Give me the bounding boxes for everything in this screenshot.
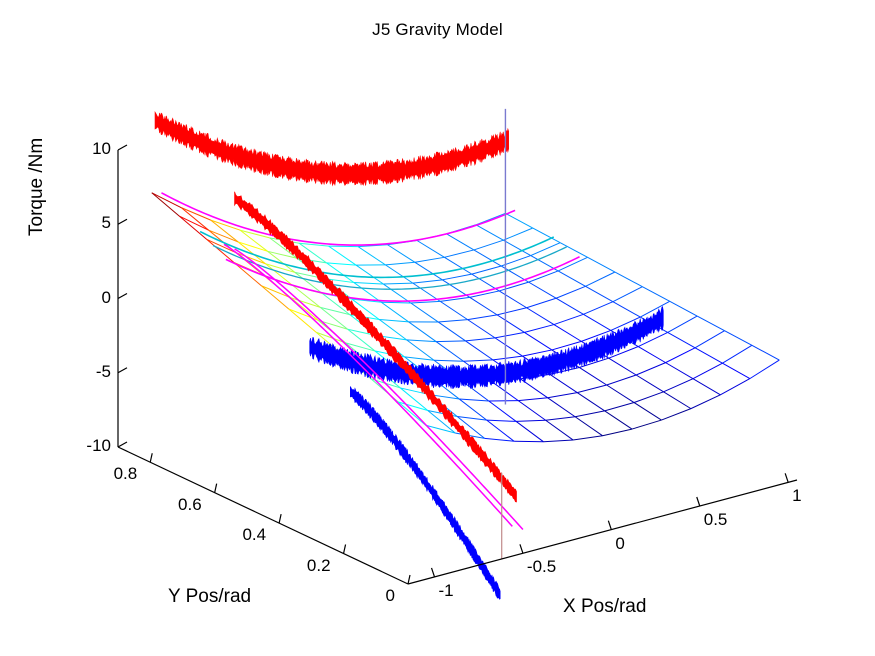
mesh-segment <box>556 298 583 314</box>
mesh-segment <box>472 266 501 274</box>
z-tick-mark <box>118 442 127 447</box>
mesh-segment <box>438 320 467 322</box>
mesh-segment <box>546 417 575 421</box>
mesh-segment <box>291 298 318 321</box>
x-tick-mark <box>432 568 435 577</box>
mesh-segment <box>558 271 585 286</box>
mesh-segment <box>468 315 497 320</box>
mesh-segment <box>466 341 493 360</box>
mesh-segment <box>385 265 412 283</box>
mesh-segment <box>725 331 752 346</box>
mesh-segment <box>666 348 695 363</box>
y-tick-label: 0.6 <box>178 495 202 515</box>
model-fit-branch-2 <box>235 249 523 530</box>
z-tick-mark <box>118 368 127 373</box>
mesh-segment <box>642 287 669 302</box>
mesh-segment <box>497 308 526 315</box>
mesh-segment <box>607 385 634 403</box>
mesh-segment <box>670 301 697 316</box>
x-tick-label: 0.5 <box>704 510 728 530</box>
x-tick-label: 1 <box>792 486 801 506</box>
mesh-segment <box>554 325 581 342</box>
mesh-segment <box>613 302 640 317</box>
mesh-segment <box>636 363 665 375</box>
mesh-segment <box>499 291 526 308</box>
mesh-segment <box>436 341 465 342</box>
mesh-segment <box>413 280 442 283</box>
y-tick-label: 0.4 <box>242 525 266 545</box>
mesh-segment <box>514 441 543 442</box>
y-tick-mark <box>215 484 217 493</box>
gravity-model-mesh <box>152 193 780 442</box>
mesh-segment <box>695 348 722 363</box>
mesh-segment <box>327 263 356 265</box>
measured-torque-positive <box>155 112 509 186</box>
mesh-segment <box>415 257 444 262</box>
mesh-segment <box>668 316 697 332</box>
figure-canvas: J5 Gravity Model Torque /Nm Y Pos/rad X … <box>0 0 875 656</box>
mesh-segment <box>495 338 522 356</box>
mesh-segment <box>583 314 610 330</box>
mesh-segment <box>720 379 749 395</box>
y-tick-label: 0.8 <box>114 464 138 484</box>
mesh-segment <box>444 250 473 257</box>
z-tick-label: -5 <box>96 362 111 382</box>
mesh-segment <box>548 393 577 398</box>
mesh-segment <box>634 403 661 421</box>
mesh-segment <box>603 429 632 436</box>
mesh-segment <box>383 283 412 284</box>
mesh-segment <box>750 360 779 379</box>
mesh-segment <box>497 315 524 333</box>
mesh-segment <box>438 322 465 341</box>
mesh-segment <box>495 332 524 337</box>
mesh-segment <box>415 262 442 280</box>
mesh-segment <box>577 393 604 411</box>
mesh-segment <box>586 286 613 301</box>
mesh-segment <box>632 420 661 429</box>
mesh-segment <box>613 287 642 302</box>
z-tick-mark <box>118 294 127 299</box>
mesh-segment <box>550 374 577 392</box>
z-tick-label: 5 <box>102 213 111 233</box>
mesh-segment <box>487 420 514 441</box>
mesh-segment <box>491 381 518 401</box>
mesh-segment <box>668 332 695 347</box>
mesh-segment <box>609 358 636 375</box>
mesh-segment <box>385 262 414 265</box>
mesh-segment <box>487 420 516 421</box>
mesh-segment <box>316 332 345 343</box>
mesh-segment <box>459 399 488 401</box>
mesh-segment <box>693 379 720 395</box>
x-tick-mark <box>785 473 788 482</box>
mesh-segment <box>554 314 583 324</box>
z-tick-mark <box>118 219 127 224</box>
mesh-segment <box>485 438 514 441</box>
mesh-segment <box>556 286 585 298</box>
mesh-segment <box>691 395 720 409</box>
mesh-segment <box>474 240 503 250</box>
x-tick-label: -0.5 <box>527 557 556 577</box>
mesh-segment <box>466 338 495 341</box>
z-tick-label: 0 <box>102 288 111 308</box>
mesh-segment <box>693 363 722 378</box>
mesh-segment <box>666 363 693 379</box>
y-axis-label: Y Pos/rad <box>168 586 251 608</box>
plot-svg <box>0 0 875 656</box>
mesh-segment <box>605 403 634 411</box>
mesh-segment <box>544 440 573 442</box>
z-tick-label: -10 <box>86 436 111 456</box>
mesh-segment <box>434 360 463 361</box>
mesh-segment <box>516 420 545 421</box>
mesh-segment <box>664 379 693 392</box>
mesh-segment <box>518 401 545 421</box>
mesh-segment <box>463 360 492 361</box>
model-fit-upper <box>161 193 515 245</box>
y-tick-mark <box>344 545 346 554</box>
mesh-segment <box>588 257 615 272</box>
mesh-segment <box>474 250 501 266</box>
x-axis-line <box>408 480 797 584</box>
mesh-segment <box>442 274 471 280</box>
mesh-segment <box>579 367 606 385</box>
mesh-segment <box>493 356 522 360</box>
mesh-segment <box>329 246 356 265</box>
z-tick-mark <box>118 145 127 150</box>
mesh-segment <box>634 392 663 403</box>
z-tick-label: 10 <box>92 139 111 159</box>
mesh-segment <box>522 350 551 356</box>
mesh-segment <box>605 411 632 429</box>
mesh-segment <box>577 385 606 393</box>
mesh-segment <box>446 234 473 250</box>
mesh-segment <box>548 398 575 417</box>
mesh-segment <box>468 320 495 338</box>
x-tick-mark <box>608 521 611 530</box>
mesh-segment <box>417 240 444 257</box>
mesh-segment <box>640 301 669 317</box>
y-tick-label: 0.2 <box>307 556 331 576</box>
mesh-segment <box>356 265 383 284</box>
mesh-segment <box>261 286 290 298</box>
x-tick-mark <box>520 544 523 553</box>
mesh-segment <box>697 316 724 331</box>
x-axis-label: X Pos/rad <box>563 596 646 618</box>
mesh-segment <box>329 246 358 247</box>
mesh-segment <box>636 375 663 392</box>
mesh-segment <box>489 401 516 421</box>
mesh-segment <box>518 398 547 401</box>
mesh-segment <box>529 282 556 298</box>
mesh-segment <box>476 225 503 240</box>
mesh-segment <box>527 308 554 325</box>
mesh-segment <box>752 345 779 360</box>
mesh-segment <box>440 301 467 319</box>
mesh-segment <box>516 421 543 441</box>
mesh-segment <box>575 417 602 436</box>
mesh-segment <box>615 272 642 287</box>
mesh-segment <box>527 298 556 308</box>
mesh-segment <box>583 302 612 315</box>
mesh-segment <box>354 283 383 284</box>
z-axis-label: Torque /Nm <box>26 138 48 236</box>
x-tick-mark <box>697 497 700 506</box>
mesh-segment <box>379 319 408 321</box>
mesh-segment <box>470 297 497 315</box>
x-tick-label: -1 <box>439 581 454 601</box>
mesh-segment <box>695 331 724 348</box>
x-tick-label: 0 <box>615 534 624 554</box>
mesh-segment <box>436 342 463 362</box>
mesh-segment <box>505 213 532 228</box>
mesh-segment <box>722 363 749 378</box>
y-axis-line <box>118 447 408 584</box>
mesh-segment <box>638 347 665 363</box>
mesh-segment <box>560 243 587 258</box>
mesh-segment <box>661 409 690 420</box>
mesh-segment <box>524 325 553 333</box>
mesh-segment <box>586 272 615 286</box>
mesh-segment <box>409 322 436 342</box>
y-tick-mark <box>408 575 410 584</box>
mesh-segment <box>573 436 602 440</box>
mesh-segment <box>407 340 436 342</box>
mesh-segment <box>575 411 604 417</box>
y-tick-mark <box>150 453 152 462</box>
y-tick-label: 0 <box>386 586 395 606</box>
mesh-segment <box>503 228 532 240</box>
mesh-segment <box>358 247 385 265</box>
mesh-segment <box>261 286 288 309</box>
mesh-segment <box>607 375 636 385</box>
y-tick-mark <box>279 514 281 523</box>
mesh-segment <box>209 230 238 242</box>
mesh-segment <box>722 345 751 363</box>
mesh-segment <box>207 239 234 262</box>
mesh-segment <box>664 392 691 409</box>
mesh-segment <box>381 302 410 303</box>
mesh-segment <box>388 245 415 263</box>
mesh-segment <box>546 420 573 440</box>
mesh-segment <box>524 332 551 350</box>
mesh-segment <box>381 302 408 322</box>
mesh-segment <box>411 303 438 322</box>
